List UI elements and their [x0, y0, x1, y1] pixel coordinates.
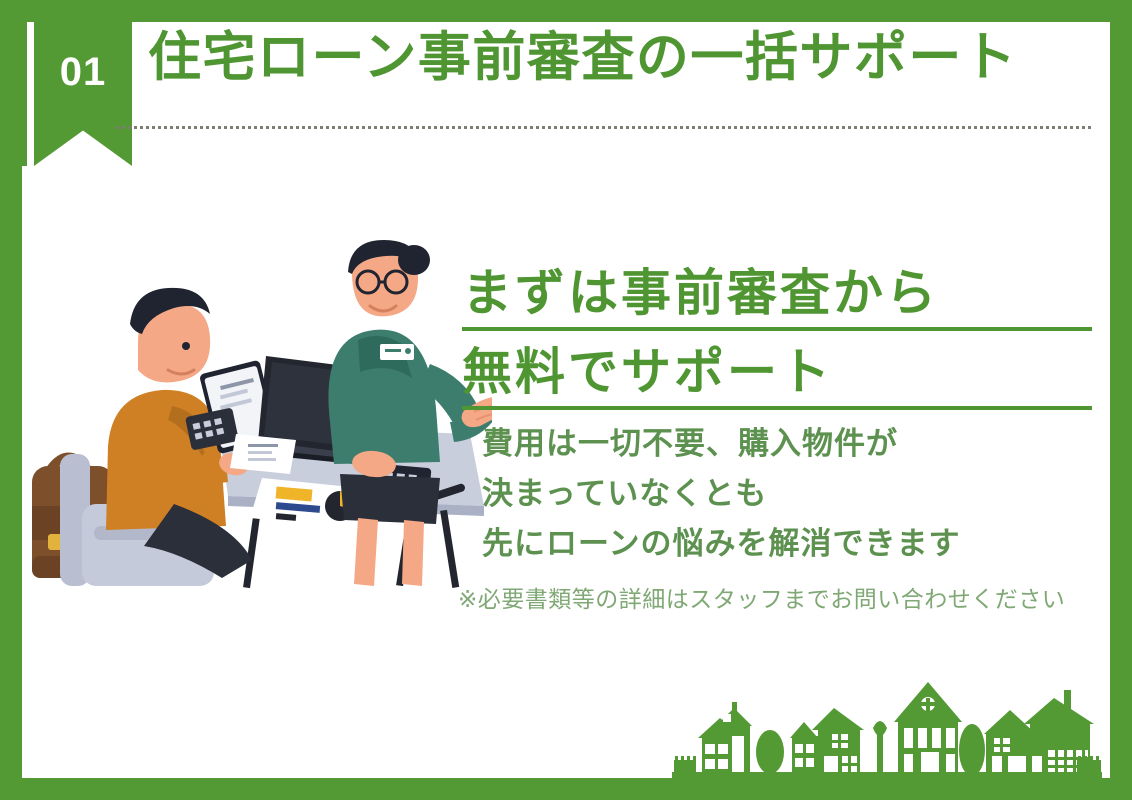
- frame-border-right: [1110, 0, 1132, 800]
- headline-block: まずは事前審査から 無料でサポート: [462, 261, 1092, 419]
- body-line-1: 費用は一切不要、購入物件が: [482, 419, 1082, 469]
- body-line-3: 先にローンの悩みを解消できます: [482, 519, 1082, 569]
- header-dotted-divider: [116, 126, 1091, 129]
- frame-border-left: [0, 0, 22, 800]
- slide-root: 01 住宅ローン事前審査の一括サポート: [0, 0, 1132, 800]
- body-copy-block: 費用は一切不要、購入物件が 決まっていなくとも 先にローンの悩みを解消できます: [482, 419, 1082, 570]
- section-number-label: 01: [34, 52, 132, 92]
- frame-border-top: [0, 0, 1132, 22]
- loan-consultation-illustration: [22, 238, 492, 590]
- page-title: 住宅ローン事前審査の一括サポート: [148, 29, 1098, 87]
- neighborhood-houses-silhouette: [672, 660, 1102, 780]
- frame-border-bottom: [0, 778, 1132, 800]
- headline-line-2: 無料でサポート: [462, 340, 1092, 410]
- body-line-2: 決まっていなくとも: [482, 469, 1082, 519]
- headline-line-1: まずは事前審査から: [462, 261, 1092, 331]
- footnote-text: ※必要書類等の詳細はスタッフまでお問い合わせください: [458, 580, 1065, 614]
- ribbon-tick-mark: [22, 18, 27, 166]
